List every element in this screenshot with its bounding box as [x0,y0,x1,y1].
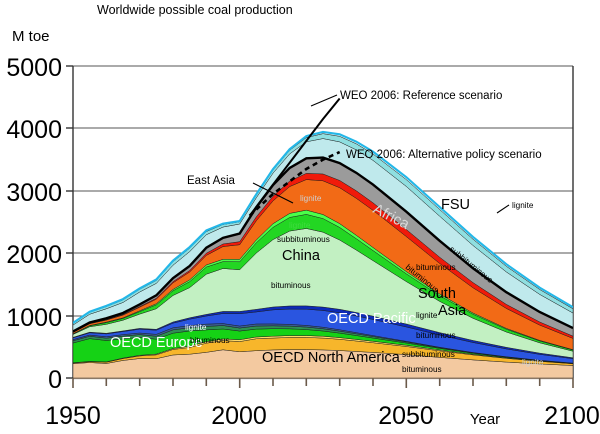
annotation-east-asia: East Asia [187,175,236,187]
region-label-oecd-north-america: OECD North America [262,350,401,366]
x-tick-2050: 2050 [378,402,434,430]
sublabel-oecd-europe-bituminous: bituminous [190,336,230,345]
sublabel-fsu-lignite: lignite [512,201,534,210]
y-axis-unit-label: M toe [12,28,50,45]
sublabel-south-asia-lignite: lignite [300,194,322,203]
x-tick-1950: 1950 [45,402,101,430]
x-axis-title: Year [470,411,500,428]
region-label-fsu: FSU [441,197,470,213]
y-tick-4000: 4000 [6,116,62,144]
sublabel-oecd-pacific-lignite: lignite [416,311,438,320]
sublabel-oecd-pacific-bituminous: bituminous [416,331,456,340]
y-tick-5000: 5000 [6,54,62,82]
sublabel-china-subbituminous: subbituminous [277,235,330,244]
page-title: Worldwide possible coal production [97,3,293,17]
y-tick-2000: 2000 [6,241,62,269]
region-label-oecd-pacific: OECD Pacific [327,311,416,327]
sublabel-oecd-na-lignite: lignite [522,358,544,367]
sublabel-south-asia-bituminous: bituminous [416,263,456,272]
coal-production-area-chart: Worldwide possible coal production M toe… [0,0,600,434]
chart-root: Worldwide possible coal production M toe… [0,0,600,434]
sublabel-oecd-na-bituminous: bituminous [402,365,442,374]
sublabel-china-bituminous: bituminous [271,281,311,290]
sublabel-oecd-na-subbituminous: subbituminous [402,350,455,359]
x-tick-2000: 2000 [211,402,267,430]
y-tick-1000: 1000 [6,304,62,332]
y-tick-3000: 3000 [6,179,62,207]
sublabel-china-lignite: lignite [289,221,311,230]
y-tick-0: 0 [48,366,62,394]
region-label-china: China [282,248,321,264]
sublabel-oecd-europe-lignite: lignite [185,323,207,332]
annotation-weo-alternative: WEO 2006: Alternative policy scenario [346,149,542,161]
annotation-weo-reference: WEO 2006: Reference scenario [340,90,502,102]
region-label-asia: Asia [438,303,467,319]
region-label-oecd-europe: OECD Europe [110,335,203,351]
x-tick-2100: 2100 [544,402,600,430]
